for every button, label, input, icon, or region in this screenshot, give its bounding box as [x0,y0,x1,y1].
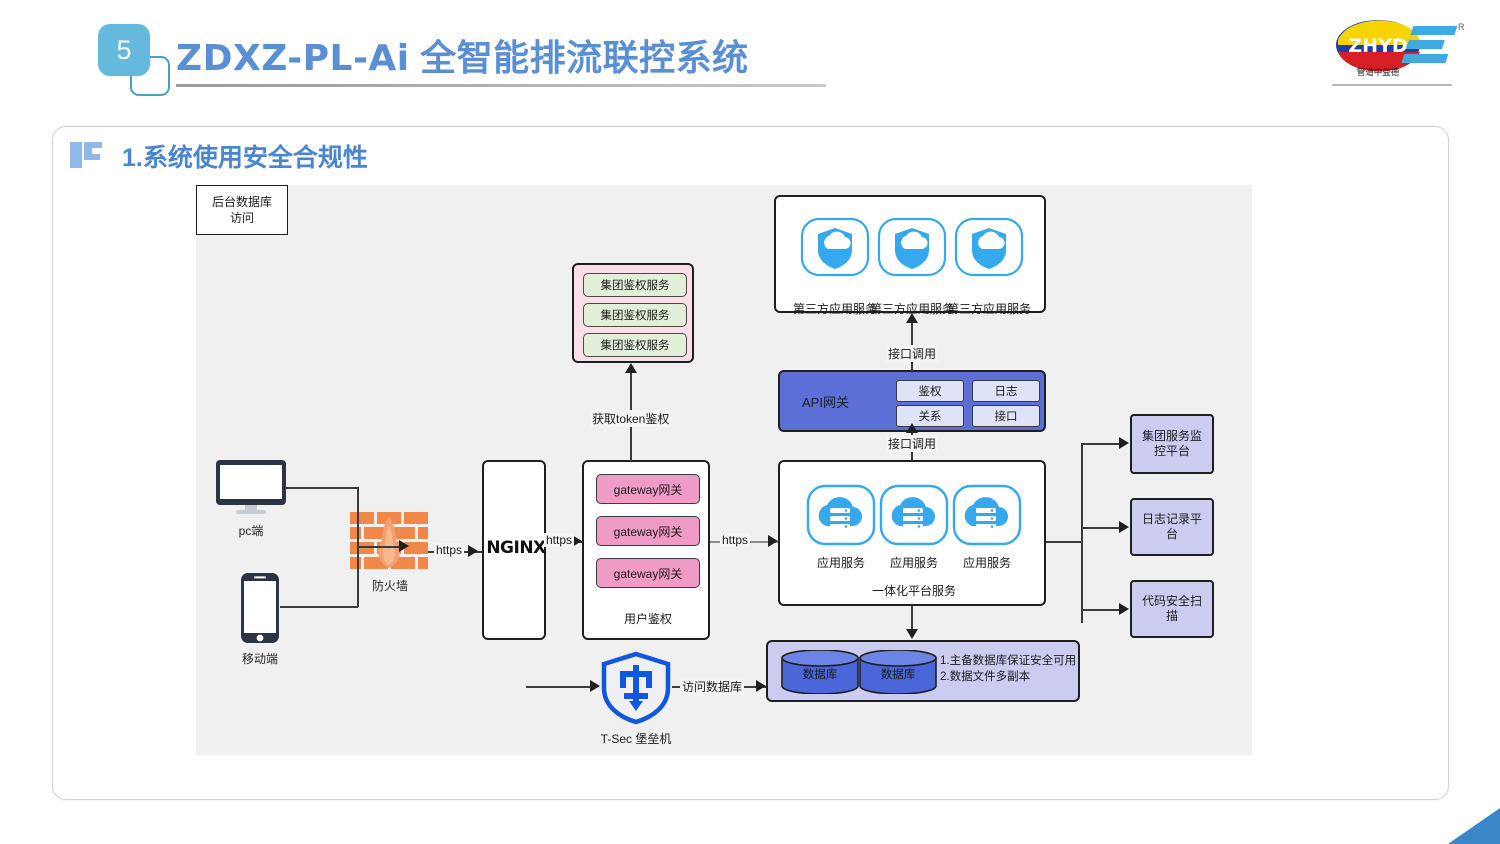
edge-label-https-2: https [544,533,574,547]
database-container: 数据库 数据库 1.主备数据库保证安全可用 2.数据文件多副本 [766,640,1080,702]
mobile-device-icon [240,572,280,644]
arrow-apigw-thirdparty [906,313,918,323]
logo-subtitle: 管道中益德 [1357,67,1400,78]
api-gateway-cell-auth[interactable]: 鉴权 [896,380,964,402]
bastion-host-icon [600,651,672,725]
database-note-2: 2.数据文件多副本 [940,669,1076,685]
edge-label-api-call-bottom: 接口调用 [886,435,938,452]
third-party-icon-2 [875,217,949,279]
edge-label-api-call-top: 接口调用 [886,345,938,362]
user-gateway-group: gateway网关 gateway网关 gateway网关 用户鉴权 [582,460,710,640]
badge-filled-square: 5 [98,24,150,76]
gateway-item-1[interactable]: gateway网关 [596,474,700,504]
third-party-container: 第三方应用服务 第三方应用服务 第三方应用服务 [774,195,1046,313]
app-service-icon-3 [950,484,1024,550]
pc-device-icon [214,458,288,516]
third-party-icon-1 [798,217,872,279]
panel-code-security-scan[interactable]: 代码安全扫描 [1130,580,1214,638]
nginx-label: NGINX [484,538,548,558]
company-logo: ZHYD 管道中益德 [1332,18,1472,80]
database-label-1: 数据库 [803,667,838,681]
app-service-label-3: 应用服务 [942,554,1032,571]
edge-dbaccess-bastion [526,686,594,688]
slide-number-badge: 5 [98,24,170,88]
edge-pc-horiz [286,487,358,489]
firewall-label: 防火墙 [346,577,434,594]
backend-db-access-node: 后台数据库 访问 [196,185,288,235]
mobile-label: 移动端 [220,650,300,667]
platform-container: 应用服务 应用服务 应用服务 一体化平台服务 [778,460,1046,606]
group-auth-item-1[interactable]: 集团鉴权服务 [583,273,687,297]
gateway-item-2[interactable]: gateway网关 [596,516,700,546]
page-header: 5 ZDXZ-PL-Ai 全智能排流联控系统 ZHYD 管道中益德 R [0,0,1500,105]
arrow-right-monitor [1119,437,1129,449]
edge-label-https-1: https [434,543,464,557]
arrow-firewall-nginx [468,545,478,557]
edge-right-monitor [1081,443,1121,445]
firewall-icon [350,512,428,572]
arrow-right-log [1119,521,1129,533]
app-service-icon-2 [877,484,951,550]
user-gateway-caption: 用户鉴权 [584,610,712,627]
edge-right-log [1081,527,1121,529]
database-notes: 1.主备数据库保证安全可用 2.数据文件多副本 [940,653,1076,685]
backend-db-access-line2: 访问 [212,210,272,226]
nginx-node: NGINX [482,460,546,640]
logo-text: ZHYD [1348,35,1407,57]
edge-platform-db [911,606,913,630]
page-title-en: ZDXZ-PL-Ai [176,38,410,79]
group-auth-container: 集团鉴权服务 集团鉴权服务 集团鉴权服务 [572,263,694,363]
architecture-diagram: pc端 移动端 防 [196,185,1252,755]
arrow-platform-apigw [906,423,918,433]
slide-number-text: 5 [116,37,131,64]
database-icon-2: 数据库 [858,650,938,694]
api-gateway-cell-log[interactable]: 日志 [972,380,1040,402]
third-party-icon-3 [952,217,1026,279]
arrow-bastion-db [756,680,766,692]
backend-db-access-line1: 后台数据库 [212,194,272,210]
api-gateway-cell-interface[interactable]: 接口 [972,405,1040,427]
arrow-platform-db [906,629,918,639]
edge-label-token-auth: 获取token鉴权 [590,410,671,427]
logo-underline [1332,84,1452,86]
panel-log-record[interactable]: 日志记录平台 [1130,498,1214,556]
section-flag-icon [68,140,104,170]
arrow-dbaccess-bastion [590,680,600,692]
edge-platform-right [1046,541,1082,543]
panel-group-service-monitor[interactable]: 集团服务监控平台 [1130,414,1214,474]
edge-label-https-3: https [720,533,750,547]
pc-label: pc端 [214,522,288,539]
backend-db-access-text: 后台数据库 访问 [212,194,272,226]
edge-right-scan [1081,609,1121,611]
api-gateway-title: API网关 [802,392,849,411]
bastion-host-label: T-Sec 堡垒机 [566,730,706,747]
edge-to-firewall [357,546,401,548]
group-auth-item-2[interactable]: 集团鉴权服务 [583,303,687,327]
third-party-label-3: 第三方应用服务 [944,300,1034,317]
edge-right-trunk [1081,443,1083,623]
database-label-2: 数据库 [881,667,916,681]
page-title-cn: 全智能排流联控系统 [410,37,749,78]
arrow-gateway-auth [625,363,637,373]
registered-mark: R [1458,22,1465,32]
page-title: ZDXZ-PL-Ai 全智能排流联控系统 [176,29,749,81]
app-service-icon-1 [804,484,878,550]
arrow-to-firewall [399,540,409,552]
gateway-item-3[interactable]: gateway网关 [596,558,700,588]
database-note-1: 1.主备数据库保证安全可用 [940,653,1076,669]
corner-accent-triangle [1448,808,1500,844]
platform-caption: 一体化平台服务 [780,582,1048,599]
section-heading: 1.系统使用安全合规性 [122,138,368,174]
edge-label-db-access: 访问数据库 [680,678,744,695]
arrow-gateway-platform [768,535,778,547]
edge-mobile-horiz [280,606,358,608]
database-icon-1: 数据库 [780,650,860,694]
group-auth-item-3[interactable]: 集团鉴权服务 [583,333,687,357]
arrow-right-scan [1119,603,1129,615]
title-underline [176,84,826,87]
